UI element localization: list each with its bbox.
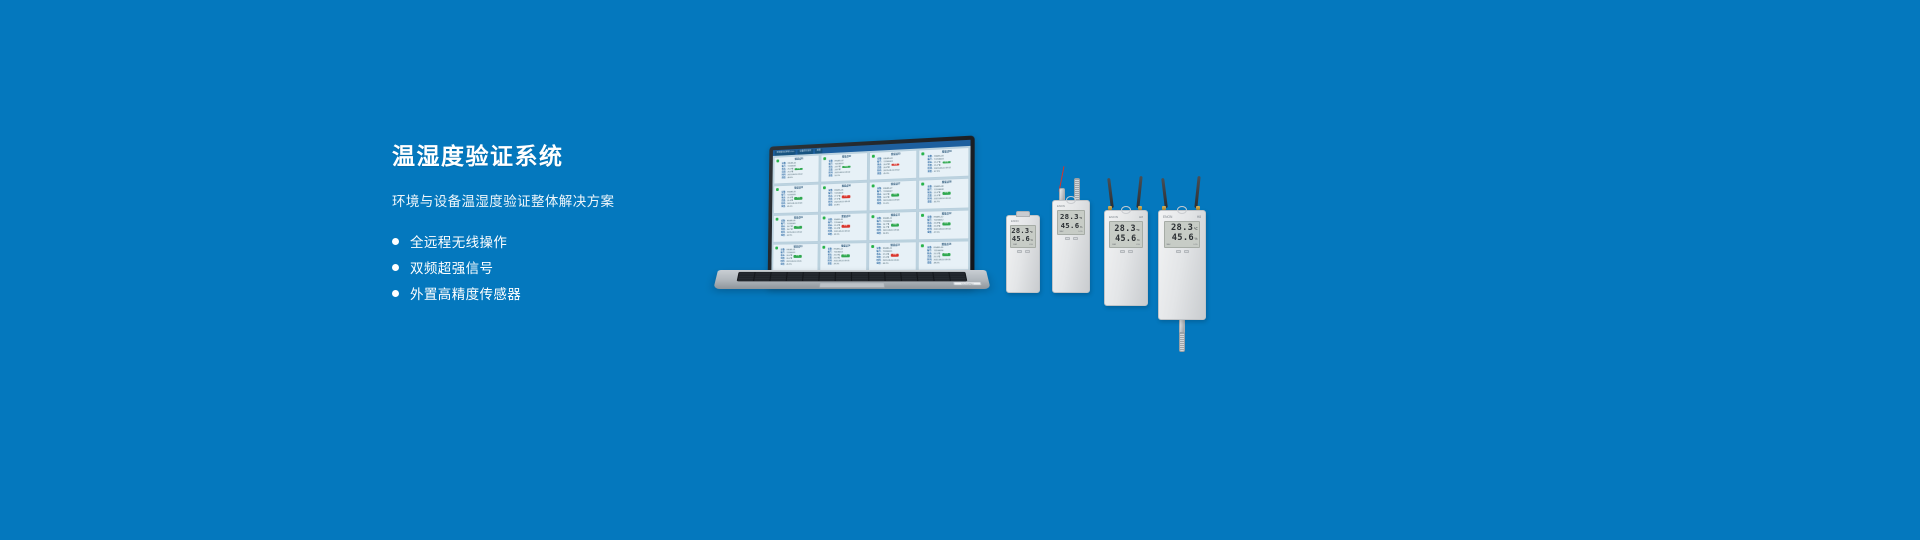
lcd-temperature-value: 28.3 bbox=[1060, 212, 1079, 221]
sensor-device: ENONH828.3℃45.6%MAXLOG bbox=[1158, 210, 1206, 320]
laptop-lid: 温湿度验证系统 V3.0 设备实时监控 报警 验证点01设备:RS485-01编… bbox=[768, 135, 975, 288]
status-led-icon bbox=[871, 215, 874, 218]
antenna-icon bbox=[1161, 178, 1168, 208]
device-lcd-display: 28.3℃45.6%MAXLOG bbox=[1164, 221, 1201, 248]
status-led-icon bbox=[871, 185, 874, 188]
lcd-temperature-unit: ℃ bbox=[1136, 228, 1140, 232]
device-brand-label: ENON bbox=[1163, 215, 1172, 219]
device-brand-row: ENONH8 bbox=[1159, 215, 1205, 219]
sensor-card[interactable]: 验证点11设备:RS485-11编号:T2206011状态:24.7℃正常温度:… bbox=[868, 210, 917, 240]
field-label: 湿度: bbox=[927, 263, 932, 266]
field-value: 47.5% bbox=[934, 232, 940, 235]
field-value: 48.6% bbox=[787, 177, 792, 180]
hanger-icon bbox=[1066, 196, 1076, 204]
lcd-max-label: MAX bbox=[1013, 244, 1017, 246]
field-value: 44.9% bbox=[787, 235, 792, 238]
lcd-humidity-unit: % bbox=[1137, 238, 1140, 242]
product-banner: 温湿度验证系统 环境与设备温湿度验证整体解决方案 全远程无线操作 双频超强信号 … bbox=[0, 0, 1920, 540]
device-brand-row: ENONH8 bbox=[1105, 215, 1147, 219]
lcd-humidity-line: 45.6% bbox=[1115, 233, 1140, 243]
page-subtitle: 环境与设备温湿度验证整体解决方案 bbox=[392, 190, 722, 210]
field-value: 47.2% bbox=[934, 170, 940, 173]
sensor-card[interactable]: 验证点09设备:RS485-09编号:T2206009状态:26.1℃正常温度:… bbox=[773, 213, 819, 242]
probe-sensor-icon bbox=[1179, 332, 1185, 352]
feature-label: 双频超强信号 bbox=[410, 257, 493, 277]
status-led-icon bbox=[922, 152, 925, 155]
device-lcd-display: 28.3℃45.6%MAXLOG bbox=[1109, 221, 1143, 248]
page-title: 温湿度验证系统 bbox=[392, 143, 722, 171]
device-body: ENON28.3℃45.6%MAXLOG bbox=[1052, 200, 1090, 293]
field-value: 48.0% bbox=[934, 263, 940, 266]
sensor-card[interactable]: 验证点10设备:RS485-10编号:T2206010状态:25.3℃报警温度:… bbox=[819, 212, 867, 242]
sensor-card[interactable]: 验证点05设备:RS485-05编号:T2206005状态:25.6℃正常温度:… bbox=[773, 184, 819, 214]
sensor-field-humi: 湿度:45.9% bbox=[781, 264, 816, 267]
feature-label: 全远程无线操作 bbox=[410, 231, 507, 251]
list-item: 全远程无线操作 bbox=[392, 229, 722, 254]
lcd-humidity-unit: % bbox=[1195, 237, 1198, 241]
lcd-humidity-value: 45.6 bbox=[1061, 221, 1080, 230]
sensor-card[interactable]: 验证点12设备:RS485-12编号:T2206012状态:25.8℃正常温度:… bbox=[918, 209, 969, 240]
status-led-icon bbox=[776, 159, 779, 162]
field-value: 45.3% bbox=[883, 173, 889, 176]
device-button-row bbox=[1065, 237, 1078, 240]
field-label: 湿度: bbox=[828, 204, 833, 207]
field-value: 46.7% bbox=[934, 201, 940, 204]
status-led-icon bbox=[823, 157, 826, 160]
field-label: 湿度: bbox=[877, 173, 882, 176]
laptop-keyboard bbox=[737, 272, 967, 282]
bullet-dot-icon bbox=[392, 290, 399, 297]
device-button[interactable] bbox=[1065, 237, 1070, 240]
sensor-field-humi: 湿度:49.3% bbox=[828, 264, 864, 267]
sensor-card[interactable]: 验证点03设备:RS485-03编号:T2206003状态:26.8℃报警温度:… bbox=[868, 150, 917, 181]
sensor-device: ENON28.3℃45.6%MAXLOG bbox=[1052, 200, 1090, 293]
sensor-card[interactable]: 验证点04设备:RS485-04编号:T2206004状态:25.1℃正常温度:… bbox=[918, 147, 969, 179]
field-value: 45.9% bbox=[786, 264, 791, 267]
status-led-icon bbox=[822, 216, 825, 219]
sensor-field-humi: 湿度:48.1% bbox=[828, 233, 864, 237]
sensor-field-humi: 湿度:43.8% bbox=[828, 204, 864, 208]
lcd-humidity-value: 45.6 bbox=[1115, 233, 1136, 243]
status-led-icon bbox=[921, 213, 924, 216]
list-item: 外置高精度传感器 bbox=[392, 281, 722, 306]
sensor-card[interactable]: 验证点16设备:RS485-16编号:T2206016状态:25.5℃正常温度:… bbox=[918, 240, 969, 271]
lcd-temperature-line: 28.3℃ bbox=[1060, 212, 1082, 221]
lcd-log-label: LOG bbox=[1029, 244, 1033, 246]
lcd-max-label: MAX bbox=[1167, 244, 1171, 246]
field-label: 湿度: bbox=[781, 264, 785, 267]
sensor-card[interactable]: 验证点14设备:RS485-14编号:T2206014状态:25.0℃正常温度:… bbox=[819, 242, 867, 271]
sensor-field-humi: 湿度:50.8% bbox=[877, 232, 914, 236]
lcd-max-label: MAX bbox=[1112, 244, 1116, 246]
device-button-row bbox=[1120, 250, 1133, 253]
lcd-humidity-unit: % bbox=[1030, 239, 1032, 242]
status-led-icon bbox=[822, 246, 825, 249]
device-button[interactable] bbox=[1120, 250, 1125, 253]
field-label: 湿度: bbox=[928, 171, 933, 174]
bullet-dot-icon bbox=[392, 238, 399, 245]
lcd-temperature-line: 28.3℃ bbox=[1171, 223, 1197, 233]
field-label: 湿度: bbox=[781, 235, 785, 238]
device-lcd-display: 28.3℃45.6%MAXLOG bbox=[1057, 210, 1086, 235]
lcd-footer: MAXLOG bbox=[1112, 244, 1140, 246]
device-button[interactable] bbox=[1128, 250, 1133, 253]
device-button[interactable] bbox=[1017, 250, 1022, 253]
sensor-field-humi: 湿度:46.7% bbox=[927, 200, 966, 204]
lcd-temperature-unit: ℃ bbox=[1079, 216, 1082, 220]
device-brand-label: ENON bbox=[1011, 220, 1019, 223]
sensor-device: ENON28.3℃45.6%MAXLOG bbox=[1006, 215, 1040, 293]
sensor-card[interactable]: 验证点01设备:RS485-01编号:T2206001状态:25.4℃正常温度:… bbox=[773, 155, 819, 185]
device-button-row bbox=[1176, 250, 1189, 253]
field-label: 湿度: bbox=[877, 233, 882, 236]
device-body: ENON28.3℃45.6%MAXLOG bbox=[1006, 215, 1040, 293]
feature-label: 外置高精度传感器 bbox=[410, 283, 521, 303]
sensor-field-humi: 湿度:48.6% bbox=[782, 176, 817, 180]
sensor-field-humi: 湿度:49.0% bbox=[781, 205, 816, 209]
device-lcd-display: 28.3℃45.6%MAXLOG bbox=[1010, 225, 1036, 248]
device-brand-label: ENON bbox=[1057, 205, 1065, 208]
field-value: 48.1% bbox=[834, 234, 840, 237]
laptop-sticker: HUAWEI bbox=[953, 282, 981, 285]
status-led-icon bbox=[775, 246, 778, 249]
status-led-icon bbox=[776, 217, 779, 220]
field-value: 49.0% bbox=[787, 206, 792, 209]
device-button[interactable] bbox=[1073, 237, 1078, 240]
lcd-humidity-value: 45.6 bbox=[1172, 233, 1194, 243]
lcd-footer: MAXLOG bbox=[1167, 244, 1198, 246]
sensor-card-grid: 验证点01设备:RS485-01编号:T2206001状态:25.4℃正常温度:… bbox=[771, 146, 970, 273]
keyboard-row bbox=[738, 280, 966, 281]
sensor-field-humi: 湿度:50.1% bbox=[829, 174, 865, 178]
banner-text-block: 温湿度验证系统 环境与设备温湿度验证整体解决方案 全远程无线操作 双频超强信号 … bbox=[392, 143, 722, 307]
device-body: ENONH828.3℃45.6%MAXLOG bbox=[1158, 210, 1206, 320]
hanger-icon bbox=[1016, 211, 1030, 217]
lcd-footer: MAXLOG bbox=[1013, 244, 1033, 246]
device-model-label: H8 bbox=[1139, 215, 1143, 219]
antenna-icon bbox=[1107, 178, 1114, 208]
lcd-humidity-line: 45.6% bbox=[1012, 235, 1033, 243]
lcd-humidity-unit: % bbox=[1080, 226, 1082, 229]
field-label: 湿度: bbox=[782, 177, 786, 180]
device-button-row bbox=[1017, 250, 1030, 253]
lcd-temperature-unit: ℃ bbox=[1030, 231, 1033, 234]
device-button[interactable] bbox=[1184, 250, 1189, 253]
sensor-field-humi: 湿度:44.9% bbox=[781, 234, 816, 238]
lcd-temperature-line: 28.3℃ bbox=[1114, 223, 1139, 233]
status-led-icon bbox=[921, 244, 924, 247]
lcd-humidity-line: 45.6% bbox=[1061, 221, 1083, 230]
laptop-product-image: 温湿度验证系统 V3.0 设备实时监控 报警 验证点01设备:RS485-01编… bbox=[718, 140, 986, 300]
hanger-icon bbox=[1177, 206, 1187, 214]
field-label: 湿度: bbox=[927, 201, 932, 204]
field-label: 湿度: bbox=[828, 264, 833, 267]
field-value: 49.3% bbox=[834, 264, 840, 267]
lcd-temperature-line: 28.3℃ bbox=[1011, 227, 1032, 235]
lcd-humidity-line: 45.6% bbox=[1172, 233, 1198, 243]
status-led-icon bbox=[871, 155, 874, 158]
sensor-field-humi: 湿度:44.2% bbox=[876, 263, 914, 266]
laptop-trackpad[interactable] bbox=[819, 282, 885, 287]
device-brand-row: ENON bbox=[1007, 220, 1039, 223]
sensor-card[interactable]: 验证点13设备:RS485-13编号:T2206013状态:26.4℃正常温度:… bbox=[772, 243, 818, 272]
field-value: 50.8% bbox=[883, 233, 889, 236]
sensor-card[interactable]: 验证点15设备:RS485-15编号:T2206015状态:27.0℃报警温度:… bbox=[868, 241, 917, 271]
lcd-temperature-unit: ℃ bbox=[1194, 227, 1198, 231]
list-item: 双频超强信号 bbox=[392, 255, 722, 280]
field-value: 44.2% bbox=[883, 263, 889, 266]
lcd-log-label: LOG bbox=[1079, 231, 1083, 233]
lcd-temperature-value: 28.3 bbox=[1011, 227, 1029, 235]
device-brand-label: ENON bbox=[1109, 215, 1118, 219]
lcd-max-label: MAX bbox=[1060, 231, 1064, 233]
lcd-log-label: LOG bbox=[1136, 244, 1140, 246]
lcd-humidity-value: 45.6 bbox=[1012, 235, 1030, 243]
device-brand-row: ENON bbox=[1053, 205, 1089, 208]
field-label: 湿度: bbox=[876, 263, 881, 266]
sensor-field-humi: 湿度:47.2% bbox=[928, 169, 967, 174]
sensor-card[interactable]: 验证点07设备:RS485-07编号:T2206007状态:24.5℃正常温度:… bbox=[868, 180, 917, 211]
antenna-icon bbox=[1136, 176, 1142, 208]
sensor-card[interactable]: 验证点02设备:RS485-02编号:T2206002状态:24.9℃正常温度:… bbox=[820, 152, 868, 183]
sensor-card[interactable]: 验证点08设备:RS485-08编号:T2206008状态:25.9℃正常温度:… bbox=[918, 178, 969, 209]
device-button[interactable] bbox=[1025, 250, 1030, 253]
field-label: 湿度: bbox=[829, 175, 834, 178]
device-button[interactable] bbox=[1176, 250, 1181, 253]
feature-list: 全远程无线操作 双频超强信号 外置高精度传感器 bbox=[392, 229, 722, 306]
bullet-dot-icon bbox=[392, 264, 399, 271]
lcd-footer: MAXLOG bbox=[1060, 231, 1083, 233]
status-led-icon bbox=[776, 188, 779, 191]
field-label: 湿度: bbox=[828, 234, 833, 237]
laptop-base: HUAWEI bbox=[713, 270, 990, 289]
field-label: 湿度: bbox=[781, 206, 785, 209]
status-led-icon bbox=[921, 183, 924, 186]
lcd-temperature-value: 28.3 bbox=[1171, 223, 1193, 233]
status-led-icon bbox=[871, 245, 874, 248]
sensor-field-humi: 湿度:48.0% bbox=[927, 263, 966, 266]
sensor-card[interactable]: 验证点06设备:RS485-06编号:T2206006状态:27.2℃报警温度:… bbox=[820, 182, 868, 212]
device-body: ENONH828.3℃45.6%MAXLOG bbox=[1104, 210, 1148, 306]
laptop-screen: 温湿度验证系统 V3.0 设备实时监控 报警 验证点01设备:RS485-01编… bbox=[771, 140, 970, 280]
sensor-device-group: ENON28.3℃45.6%MAXLOGENON28.3℃45.6%MAXLOG… bbox=[1000, 170, 1220, 320]
field-value: 43.8% bbox=[834, 204, 840, 207]
sensor-field-humi: 湿度:45.3% bbox=[877, 172, 914, 177]
sensor-device: ENONH828.3℃45.6%MAXLOG bbox=[1104, 210, 1148, 306]
sensor-field-humi: 湿度:47.5% bbox=[927, 231, 966, 235]
field-value: 51.4% bbox=[883, 203, 889, 206]
lcd-log-label: LOG bbox=[1194, 244, 1198, 246]
sensor-field-humi: 湿度:51.4% bbox=[877, 202, 914, 206]
antenna-icon bbox=[1194, 176, 1200, 208]
status-led-icon bbox=[823, 187, 826, 190]
field-label: 湿度: bbox=[927, 232, 932, 235]
lcd-temperature-value: 28.3 bbox=[1114, 223, 1135, 233]
field-label: 湿度: bbox=[877, 203, 882, 206]
field-value: 50.1% bbox=[834, 175, 840, 178]
hanger-icon bbox=[1121, 206, 1131, 214]
device-model-label: H8 bbox=[1197, 215, 1201, 219]
